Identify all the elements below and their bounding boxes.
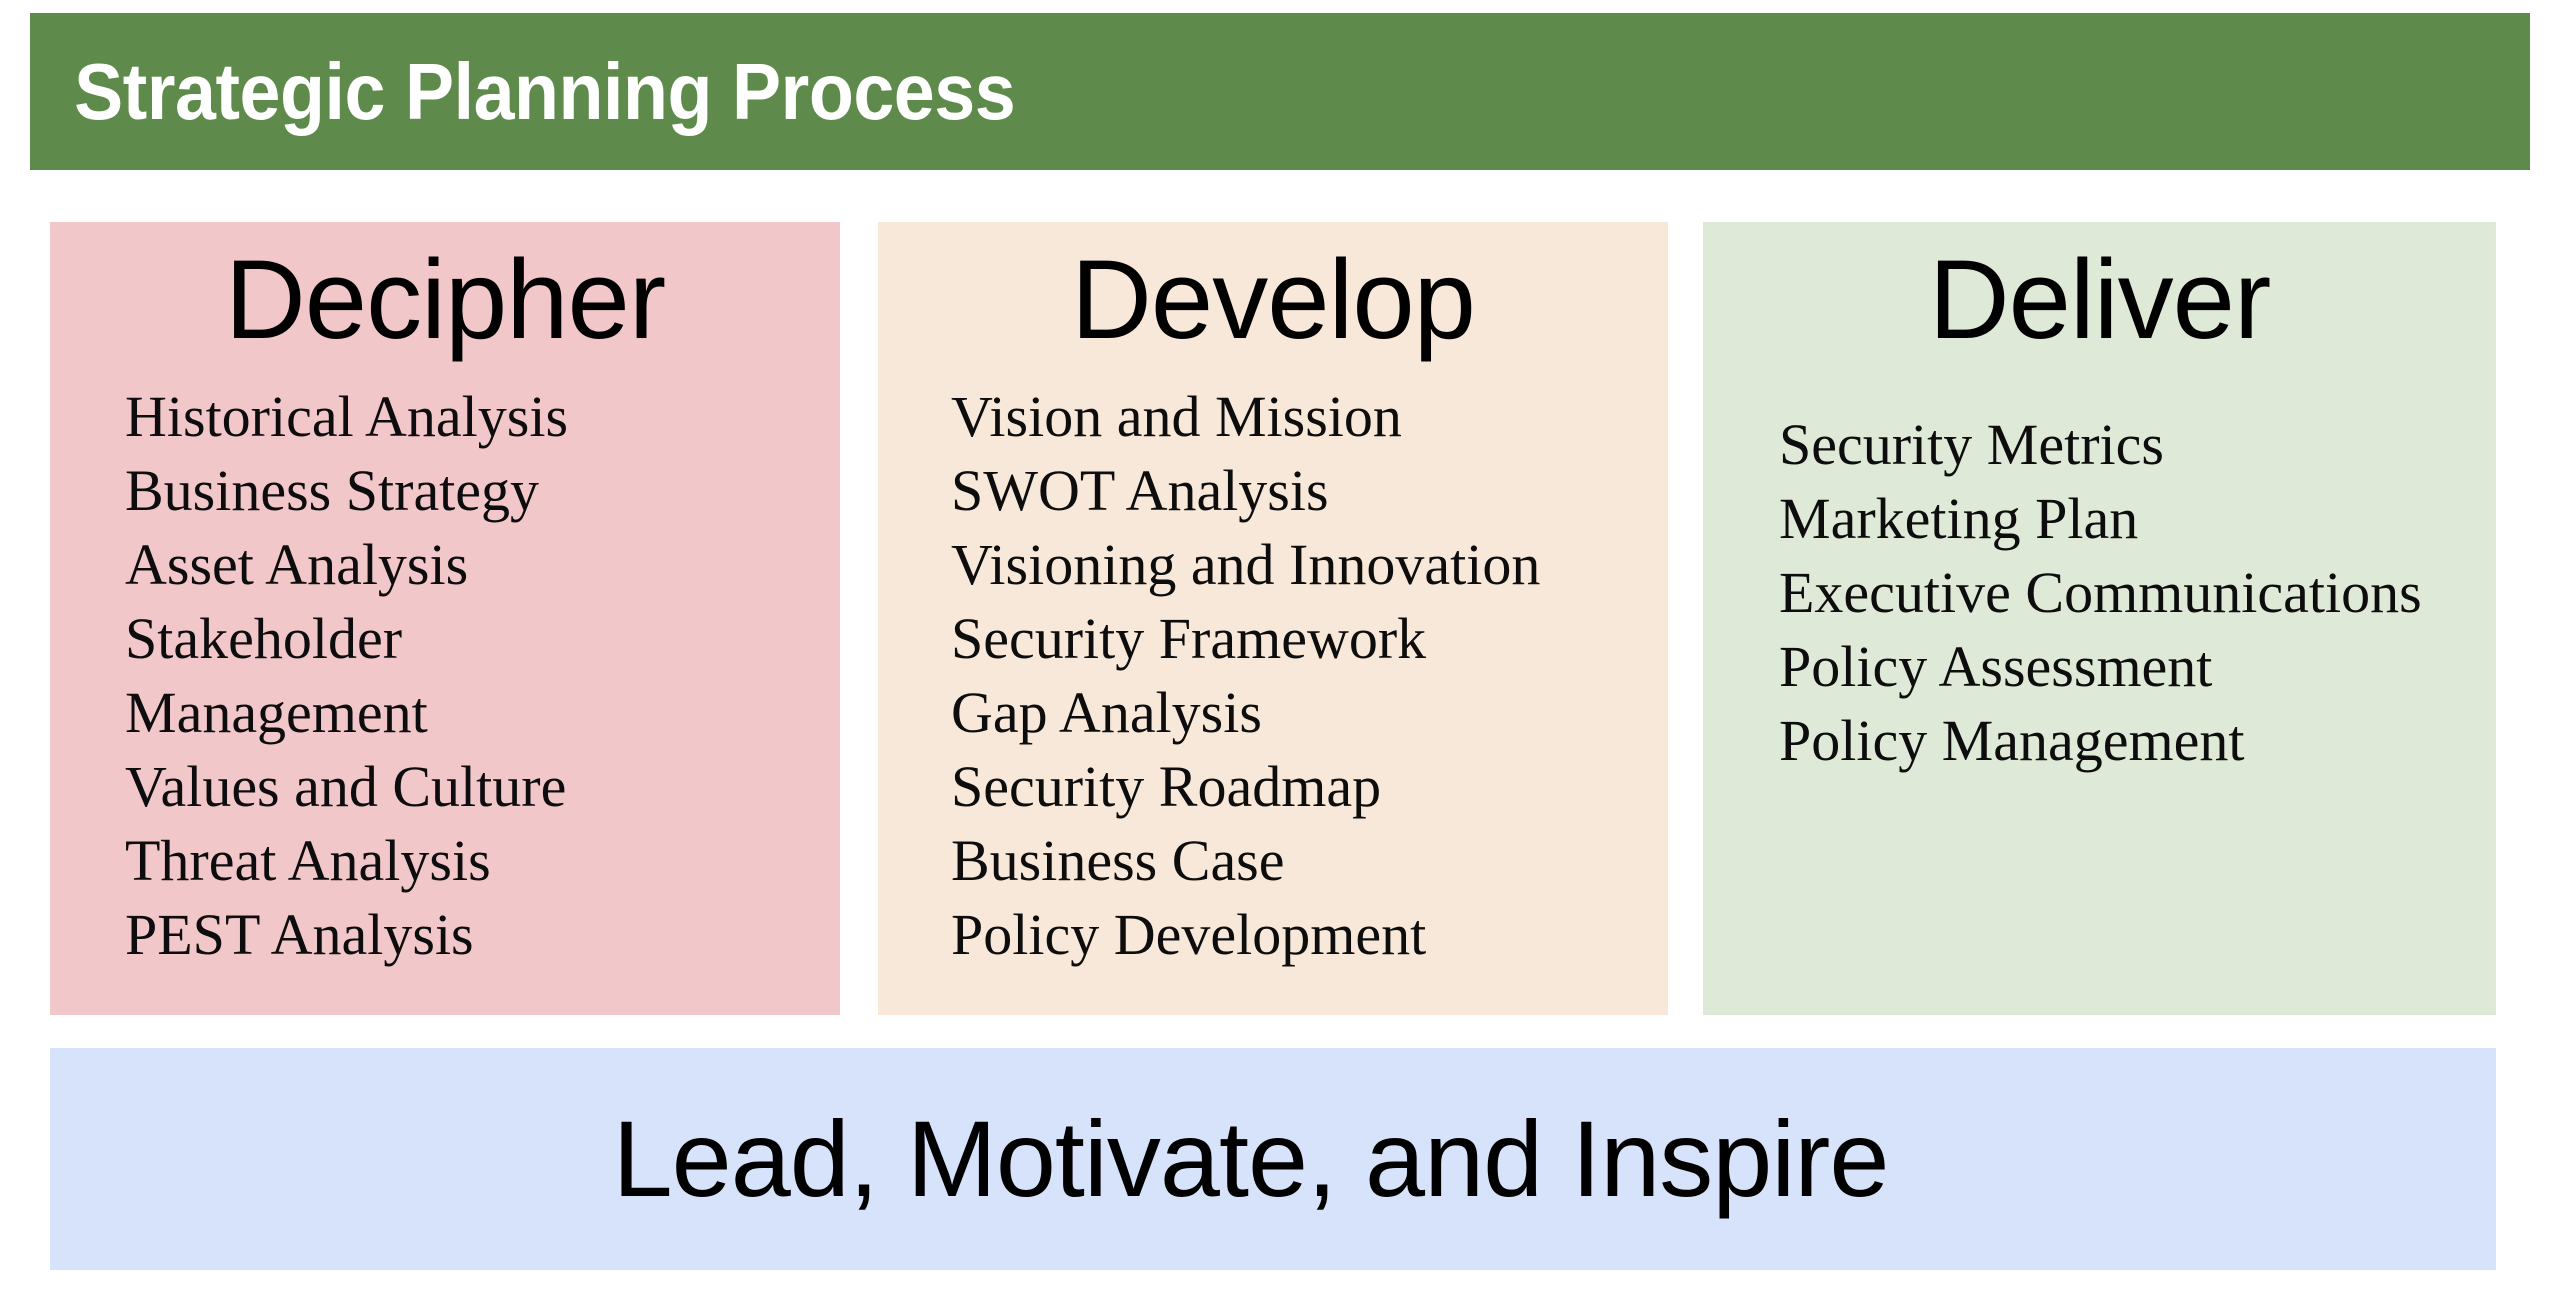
list-item: Values and Culture — [125, 750, 840, 824]
list-item: PEST Analysis — [125, 898, 840, 972]
list-item: Asset Analysis — [125, 528, 840, 602]
list-item: Executive Communications — [1779, 556, 2496, 630]
list-item: Business Case — [951, 824, 1668, 898]
footer-tagline: Lead, Motivate, and Inspire — [613, 1105, 1889, 1213]
list-item: Security Metrics — [1779, 408, 2496, 482]
phase-column-deliver: Deliver Security Metrics Marketing Plan … — [1703, 222, 2496, 1015]
list-item: Security Roadmap — [951, 750, 1668, 824]
phase-item-list-decipher: Historical Analysis Business Strategy As… — [50, 356, 840, 972]
title-banner: Strategic Planning Process — [30, 13, 2530, 170]
list-item: Policy Management — [1779, 704, 2496, 778]
phase-item-list-deliver: Security Metrics Marketing Plan Executiv… — [1703, 356, 2496, 778]
list-item: Security Framework — [951, 602, 1668, 676]
list-item: Policy Development — [951, 898, 1668, 972]
phase-column-develop: Develop Vision and Mission SWOT Analysis… — [878, 222, 1668, 1015]
list-item: Policy Assessment — [1779, 630, 2496, 704]
list-item: Visioning and Innovation — [951, 528, 1668, 602]
phase-columns-row: Decipher Historical Analysis Business St… — [50, 222, 2496, 1015]
list-item: Vision and Mission — [951, 380, 1668, 454]
list-item: Historical Analysis — [125, 380, 840, 454]
phase-heading-develop: Develop — [878, 222, 1668, 356]
page-title: Strategic Planning Process — [30, 52, 1015, 132]
phase-heading-decipher: Decipher — [50, 222, 840, 356]
footer-banner: Lead, Motivate, and Inspire — [50, 1048, 2496, 1270]
phase-heading-deliver: Deliver — [1703, 222, 2496, 356]
phase-item-list-develop: Vision and Mission SWOT Analysis Visioni… — [878, 356, 1668, 972]
list-item: Threat Analysis — [125, 824, 840, 898]
list-item: Business Strategy — [125, 454, 840, 528]
phase-column-decipher: Decipher Historical Analysis Business St… — [50, 222, 840, 1015]
list-item: Gap Analysis — [951, 676, 1668, 750]
list-item: Marketing Plan — [1779, 482, 2496, 556]
list-item: SWOT Analysis — [951, 454, 1668, 528]
list-item: Stakeholder Management — [125, 602, 555, 750]
